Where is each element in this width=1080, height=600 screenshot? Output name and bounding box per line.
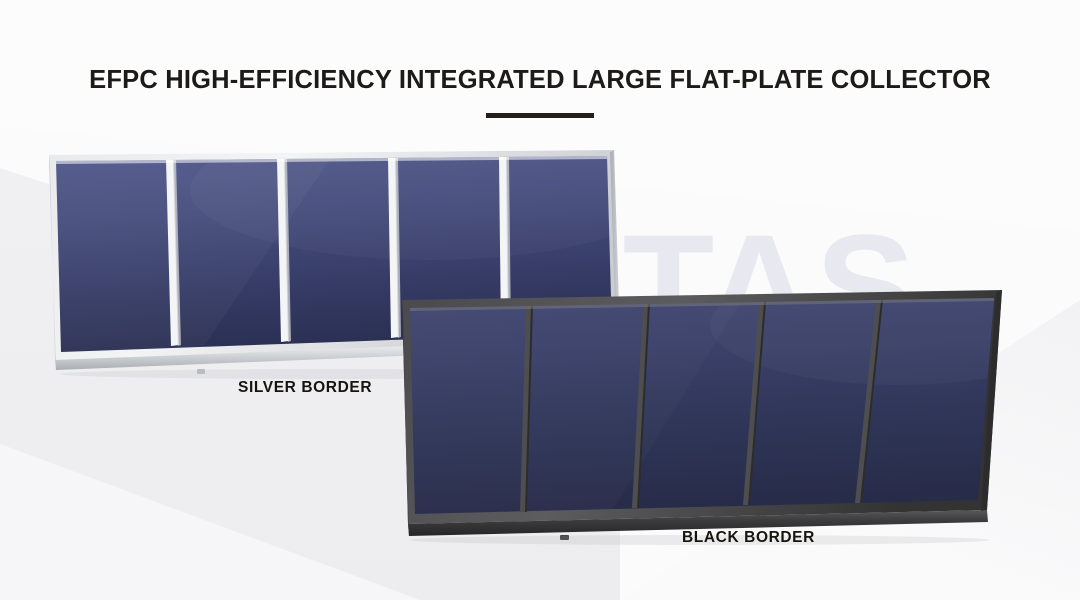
caption-black-border: BLACK BORDER: [682, 529, 815, 547]
solar-collector-black-border: [380, 270, 1080, 560]
title-underline-rule: [486, 113, 594, 118]
page-title: EFPC HIGH-EFFICIENCY INTEGRATED LARGE FL…: [0, 66, 1080, 95]
product-showcase-image: SOLEITAS EFPC HIGH-EFFICIENCY INTEGRATED…: [0, 0, 1080, 600]
caption-silver-border: SILVER BORDER: [238, 379, 372, 397]
